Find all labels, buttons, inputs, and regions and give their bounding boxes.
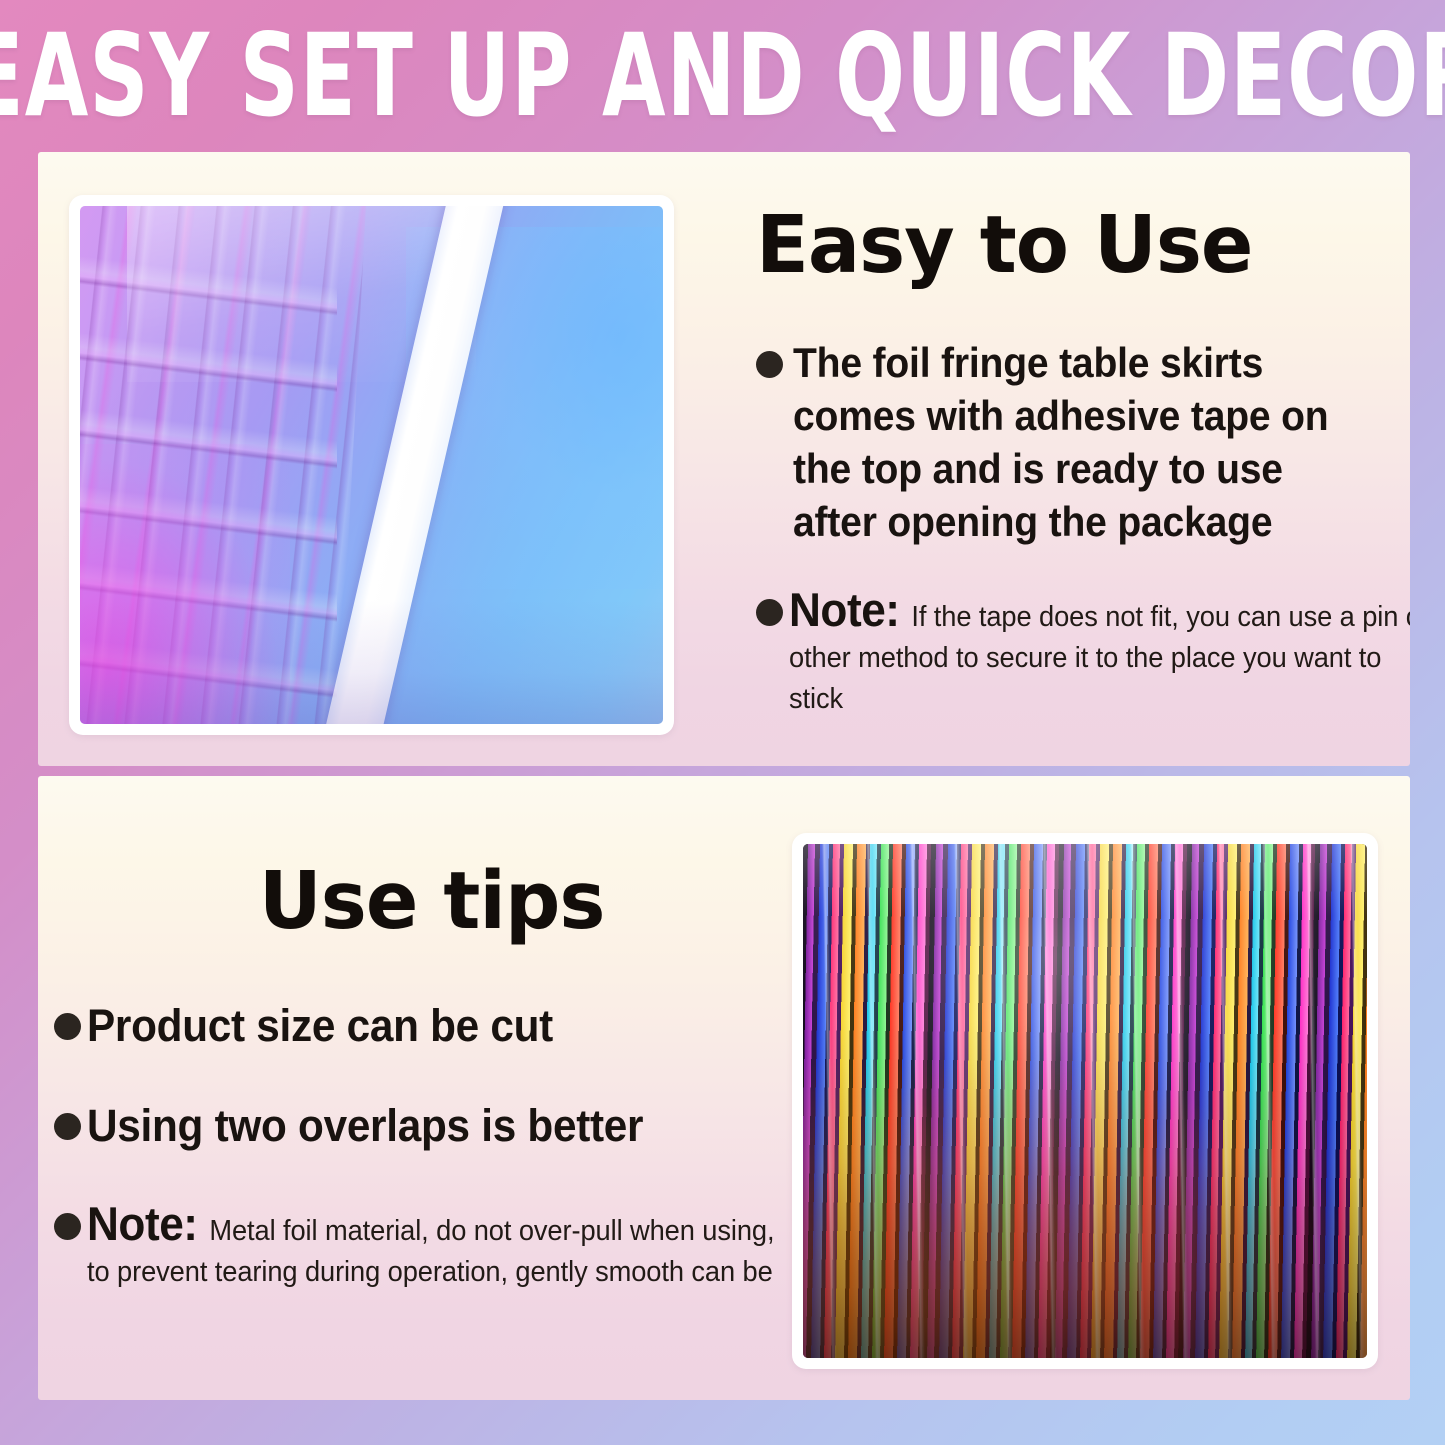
section-panel-easy-to-use: Easy to Use The foil fringe table skirts… <box>38 152 1410 766</box>
bullet-text-easy-1: The foil fringe table skirts comes with … <box>793 337 1344 549</box>
bullet-dot-icon <box>54 1013 81 1040</box>
bullet-dot-icon <box>756 599 783 626</box>
foil-skirt-with-tape-photo <box>69 195 674 735</box>
note-line1-tips: Metal foil material, do not over-pull wh… <box>209 1215 774 1247</box>
page-title: EASY SET UP AND QUICK DECOR <box>0 18 1445 133</box>
note-line1-easy: If the tape does not fit, you can use a … <box>911 601 1410 633</box>
rainbow-sheen <box>803 844 1367 1358</box>
skirt-fold-shadow <box>80 600 663 724</box>
bullet-dot-icon <box>54 1213 81 1240</box>
bullet-item-tip-2: Using two overlaps is better <box>54 1099 780 1153</box>
bullet-dot-icon <box>54 1113 81 1140</box>
photo-inner-skirt <box>80 206 663 724</box>
infographic-canvas: EASY SET UP AND QUICK DECOR Easy to Use <box>0 0 1445 1445</box>
note-use-tips: Note: Metal foil material, do not over-p… <box>54 1199 780 1293</box>
note-label-easy: Note: <box>789 583 911 636</box>
note-easy-to-use: Note: If the tape does not fit, you can … <box>756 585 1386 721</box>
section-panel-use-tips: Use tips Product size can be cut Using t… <box>38 776 1410 1400</box>
use-tips-text-column: Use tips Product size can be cut Using t… <box>54 862 780 1293</box>
note-body-tips: Note: Metal foil material, do not over-p… <box>87 1199 774 1293</box>
bullet-dot-icon <box>756 351 783 378</box>
heading-easy-to-use: Easy to Use <box>756 206 1373 285</box>
rainbow-foil-fringe-photo <box>792 833 1378 1369</box>
bullet-text-tip-2: Using two overlaps is better <box>87 1099 643 1153</box>
note-body-easy: Note: If the tape does not fit, you can … <box>789 585 1410 721</box>
bullet-item-tip-1: Product size can be cut <box>54 999 780 1053</box>
bullet-text-tip-1: Product size can be cut <box>87 999 553 1053</box>
note-line2-easy: other method to secure it to the place y… <box>789 642 1381 715</box>
heading-use-tips: Use tips <box>61 862 772 941</box>
easy-to-use-text-column: Easy to Use The foil fringe table skirts… <box>756 206 1386 720</box>
bullet-item-easy-1: The foil fringe table skirts comes with … <box>756 337 1386 549</box>
note-label-tips: Note: <box>87 1197 209 1250</box>
header-banner: EASY SET UP AND QUICK DECOR <box>0 0 1445 150</box>
photo-inner-rainbow <box>803 844 1367 1358</box>
note-line2-tips: to prevent tearing during operation, gen… <box>87 1256 773 1288</box>
